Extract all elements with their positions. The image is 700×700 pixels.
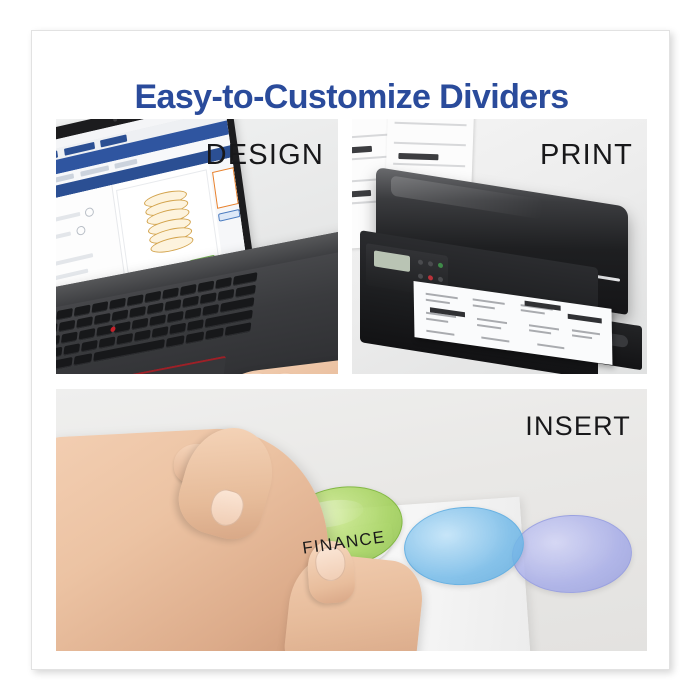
panel-design: DESIGN	[56, 119, 338, 374]
product-image-canvas: Easy-to-Customize Dividers	[0, 0, 700, 700]
divider-template-preview	[143, 188, 194, 268]
sidebar-field	[56, 231, 71, 244]
rail-button	[218, 209, 240, 222]
printer-button-icon	[418, 259, 423, 265]
radio-icon	[85, 206, 95, 217]
page-title: Easy-to-Customize Dividers	[32, 78, 671, 117]
webcam-icon	[113, 119, 117, 122]
printer-button-icon	[438, 277, 443, 283]
panel-label-print: PRINT	[540, 139, 633, 172]
printer-lcd-display	[374, 250, 410, 272]
printer-power-icon	[438, 263, 443, 269]
selected-template-thumbnail	[212, 167, 239, 210]
sidebar-field	[56, 212, 80, 227]
printer-button-icon	[418, 273, 423, 279]
knuckle	[267, 371, 306, 374]
panel-insert: FINANCE INSERT	[56, 389, 647, 651]
printer-button-icon	[428, 261, 433, 267]
panel-label-design: DESIGN	[206, 139, 324, 172]
thumbnail	[206, 486, 247, 529]
panel-label-insert: INSERT	[525, 411, 631, 442]
product-card: Easy-to-Customize Dividers	[31, 30, 670, 670]
radio-icon	[76, 225, 86, 236]
sidebar-field	[56, 253, 94, 269]
printer-cancel-icon	[428, 275, 433, 281]
panel-print: PRINT	[352, 119, 647, 374]
